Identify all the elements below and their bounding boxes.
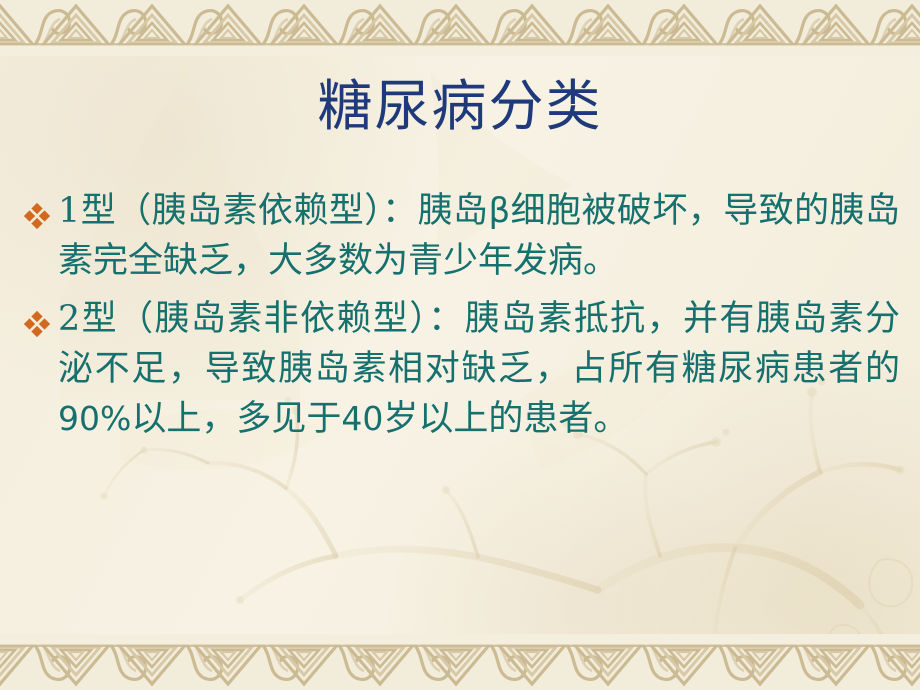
slide: 糖尿病分类 1型（胰岛素依赖型）：胰岛β细胞被破坏，导致的胰岛素完全缺乏，大多数…	[0, 0, 920, 690]
text-seg: 2型（胰岛素非依赖型）：胰岛素抵抗，并有胰岛素分泌不足，导致胰岛素相对缺乏，占所…	[58, 299, 900, 389]
bullet-list: 1型（胰岛素依赖型）：胰岛β细胞被破坏，导致的胰岛素完全缺乏，大多数为青少年发病…	[24, 186, 900, 452]
diamond-cluster-bullet-icon	[24, 186, 58, 229]
diamond-cluster-bullet-icon	[24, 294, 58, 337]
text-seg: 以上，多见于	[131, 399, 341, 439]
top-decorative-border	[0, 0, 920, 56]
list-item: 1型（胰岛素依赖型）：胰岛β细胞被破坏，导致的胰岛素完全缺乏，大多数为青少年发病…	[24, 186, 900, 286]
text-seg: 1型（胰岛素依赖型）：胰岛	[58, 191, 488, 231]
bottom-decorative-border	[0, 634, 920, 690]
age-value: 40	[341, 399, 383, 438]
slide-title: 糖尿病分类	[0, 78, 920, 136]
list-item-text-2: 2型（胰岛素非依赖型）：胰岛素抵抗，并有胰岛素分泌不足，导致胰岛素相对缺乏，占所…	[58, 294, 900, 444]
list-item-text-1: 1型（胰岛素依赖型）：胰岛β细胞被破坏，导致的胰岛素完全缺乏，大多数为青少年发病…	[58, 186, 900, 286]
text-seg: 岁以上的患者。	[383, 399, 628, 439]
list-item: 2型（胰岛素非依赖型）：胰岛素抵抗，并有胰岛素分泌不足，导致胰岛素相对缺乏，占所…	[24, 294, 900, 444]
beta-symbol: β	[488, 191, 510, 231]
percent-value: 90%	[58, 399, 131, 438]
